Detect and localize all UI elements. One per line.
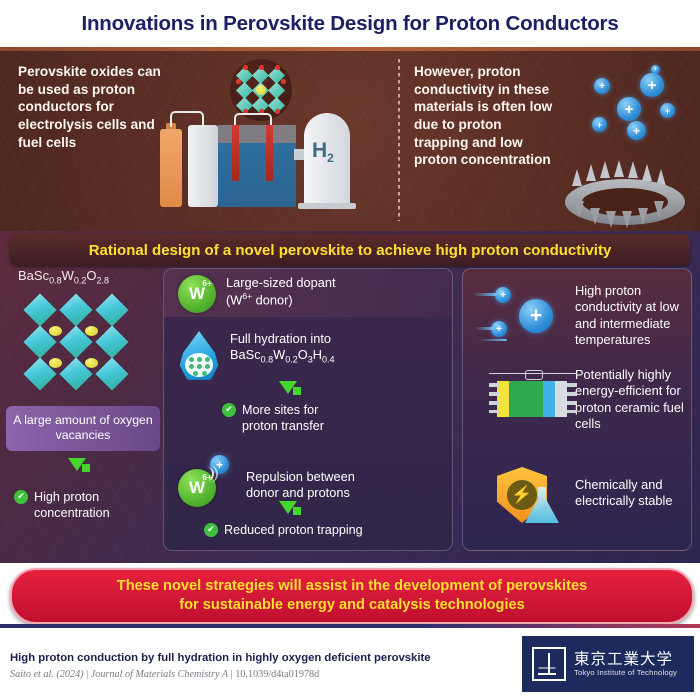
- repulsion-text: Repulsion between donor and protons: [246, 455, 355, 502]
- fuel-cell-icon: [473, 367, 565, 437]
- down-arrow-icon: [68, 458, 86, 471]
- proton-particle: +: [594, 78, 610, 94]
- high-proton-concentration-item: ✔ High proton concentration: [14, 490, 154, 521]
- section-divider-dots: [398, 59, 400, 221]
- stability-benefit-row: ⚡ Chemically and electrically stable: [473, 465, 685, 527]
- hydrated-formula: BaSc0.8W0.2O3H0.4: [230, 347, 334, 366]
- rational-design-banner: Rational design of a novel perovskite to…: [10, 234, 690, 266]
- hydrogen-label: H2: [312, 139, 334, 165]
- perovskite-lattice-icon: [18, 290, 148, 395]
- more-sites-item: ✔ More sites forproton transfer: [222, 403, 422, 434]
- proton-particle: +: [640, 73, 664, 97]
- banner-text: Rational design of a novel perovskite to…: [89, 242, 612, 259]
- logo-mark-icon: [532, 647, 566, 681]
- orange-gas-tank: [160, 129, 182, 207]
- proton-conduction-icon: + + +: [473, 279, 565, 353]
- tokyo-tech-logo: 東京工業大学 Tokyo Institute of Technology: [522, 636, 694, 692]
- conclusion-line-2: for sustainable energy and catalysis tec…: [179, 596, 525, 615]
- paper-title: High proton conduction by full hydration…: [10, 652, 431, 664]
- title-bar: Innovations in Perovskite Design for Pro…: [0, 0, 700, 48]
- fuel-cell-benefit-row: Potentially highly energy-efficient for …: [473, 367, 685, 437]
- oxygen-vacancies-label: A large amount of oxygen vacancies: [6, 406, 160, 451]
- citation-authors: Saito et al. (2024): [10, 669, 84, 680]
- anode: [232, 125, 239, 181]
- hydration-row: Full hydration into BaSc0.8W0.2O3H0.4: [178, 331, 443, 383]
- middle-card: 6+ W Large-sized dopant (W6+ donor) Full…: [163, 268, 453, 551]
- stability-benefit-text: Chemically and electrically stable: [575, 465, 685, 510]
- graphical-abstract: Innovations in Perovskite Design for Pro…: [0, 0, 700, 700]
- down-arrow-icon: [279, 381, 297, 394]
- conclusion-line-1: These novel strategies will assist in th…: [117, 577, 587, 596]
- lightning-bolt-icon: ⚡: [507, 480, 537, 510]
- proton-particle: +: [617, 97, 641, 121]
- logo-japanese-name: 東京工業大学: [574, 651, 677, 668]
- check-icon: ✔: [14, 490, 28, 504]
- right-card: + + + High proton conductivity at low an…: [462, 268, 692, 551]
- citation-doi[interactable]: 10.1039/d4ta01978d: [235, 669, 319, 680]
- conductivity-benefit-row: + + + High proton conductivity at low an…: [473, 279, 685, 353]
- footer-divider: [0, 624, 700, 628]
- problem-section: Perovskite oxides can be used as proton …: [0, 51, 700, 231]
- proton-particle: +: [592, 117, 607, 132]
- cathode: [266, 125, 273, 181]
- dopant-row: 6+ W Large-sized dopant (W6+ donor): [178, 275, 443, 313]
- proton-particle: +: [627, 121, 646, 140]
- bullet-label: More sites forproton transfer: [242, 403, 324, 434]
- electrolysis-illustration: H2: [152, 57, 392, 225]
- perovskite-structure-icon: [230, 59, 292, 121]
- down-arrow-icon: [279, 501, 297, 514]
- logo-english-name: Tokyo Institute of Technology: [574, 668, 677, 677]
- page-title: Innovations in Perovskite Design for Pro…: [81, 12, 618, 36]
- dopant-text: Large-sized dopant (W6+ donor): [226, 275, 336, 309]
- check-icon: ✔: [222, 403, 236, 417]
- proton-trapping-problem-text: However, proton conductivity in these ma…: [414, 63, 554, 169]
- conductivity-benefit-text: High proton conductivity at low and inte…: [575, 279, 685, 348]
- citation-line: Saito et al. (2024) | Journal of Materia…: [10, 669, 319, 680]
- conclusion-banner: These novel strategies will assist in th…: [10, 568, 694, 624]
- tungsten-proton-repulsion-icon: 6+ W +: [178, 455, 236, 507]
- bullet-label: Reduced proton trapping: [224, 523, 363, 539]
- water-molecules: [185, 353, 213, 377]
- reduced-trapping-item: ✔ Reduced proton trapping: [204, 523, 444, 539]
- repulsion-row: 6+ W + Repulsion between donor and proto…: [178, 455, 443, 507]
- hydration-text: Full hydration into BaSc0.8W0.2O3H0.4: [230, 331, 334, 366]
- tungsten-dopant-icon: 6+ W: [178, 275, 216, 313]
- fuel-cell-benefit-text: Potentially highly energy-efficient for …: [575, 367, 685, 432]
- check-icon: ✔: [204, 523, 218, 537]
- wire-left: [170, 111, 204, 127]
- shield-flask-icon: ⚡: [473, 465, 565, 527]
- left-column: BaSc0.8W0.2O2.8 A large amount of oxygen…: [0, 268, 165, 558]
- electrolysis-cell: [218, 125, 296, 207]
- hydrogen-tank-base: [298, 203, 356, 209]
- water-drop-icon: [178, 331, 220, 383]
- bullet-label: High proton concentration: [34, 490, 154, 521]
- perovskite-use-text: Perovskite oxides can be used as proton …: [18, 63, 168, 151]
- power-supply-box: [188, 125, 218, 207]
- bear-trap-icon: [560, 161, 690, 229]
- proton-particle: +: [660, 103, 675, 118]
- citation-journal: Journal of Materials Chemistry A: [91, 669, 228, 680]
- material-formula: BaSc0.8W0.2O2.8: [18, 268, 109, 286]
